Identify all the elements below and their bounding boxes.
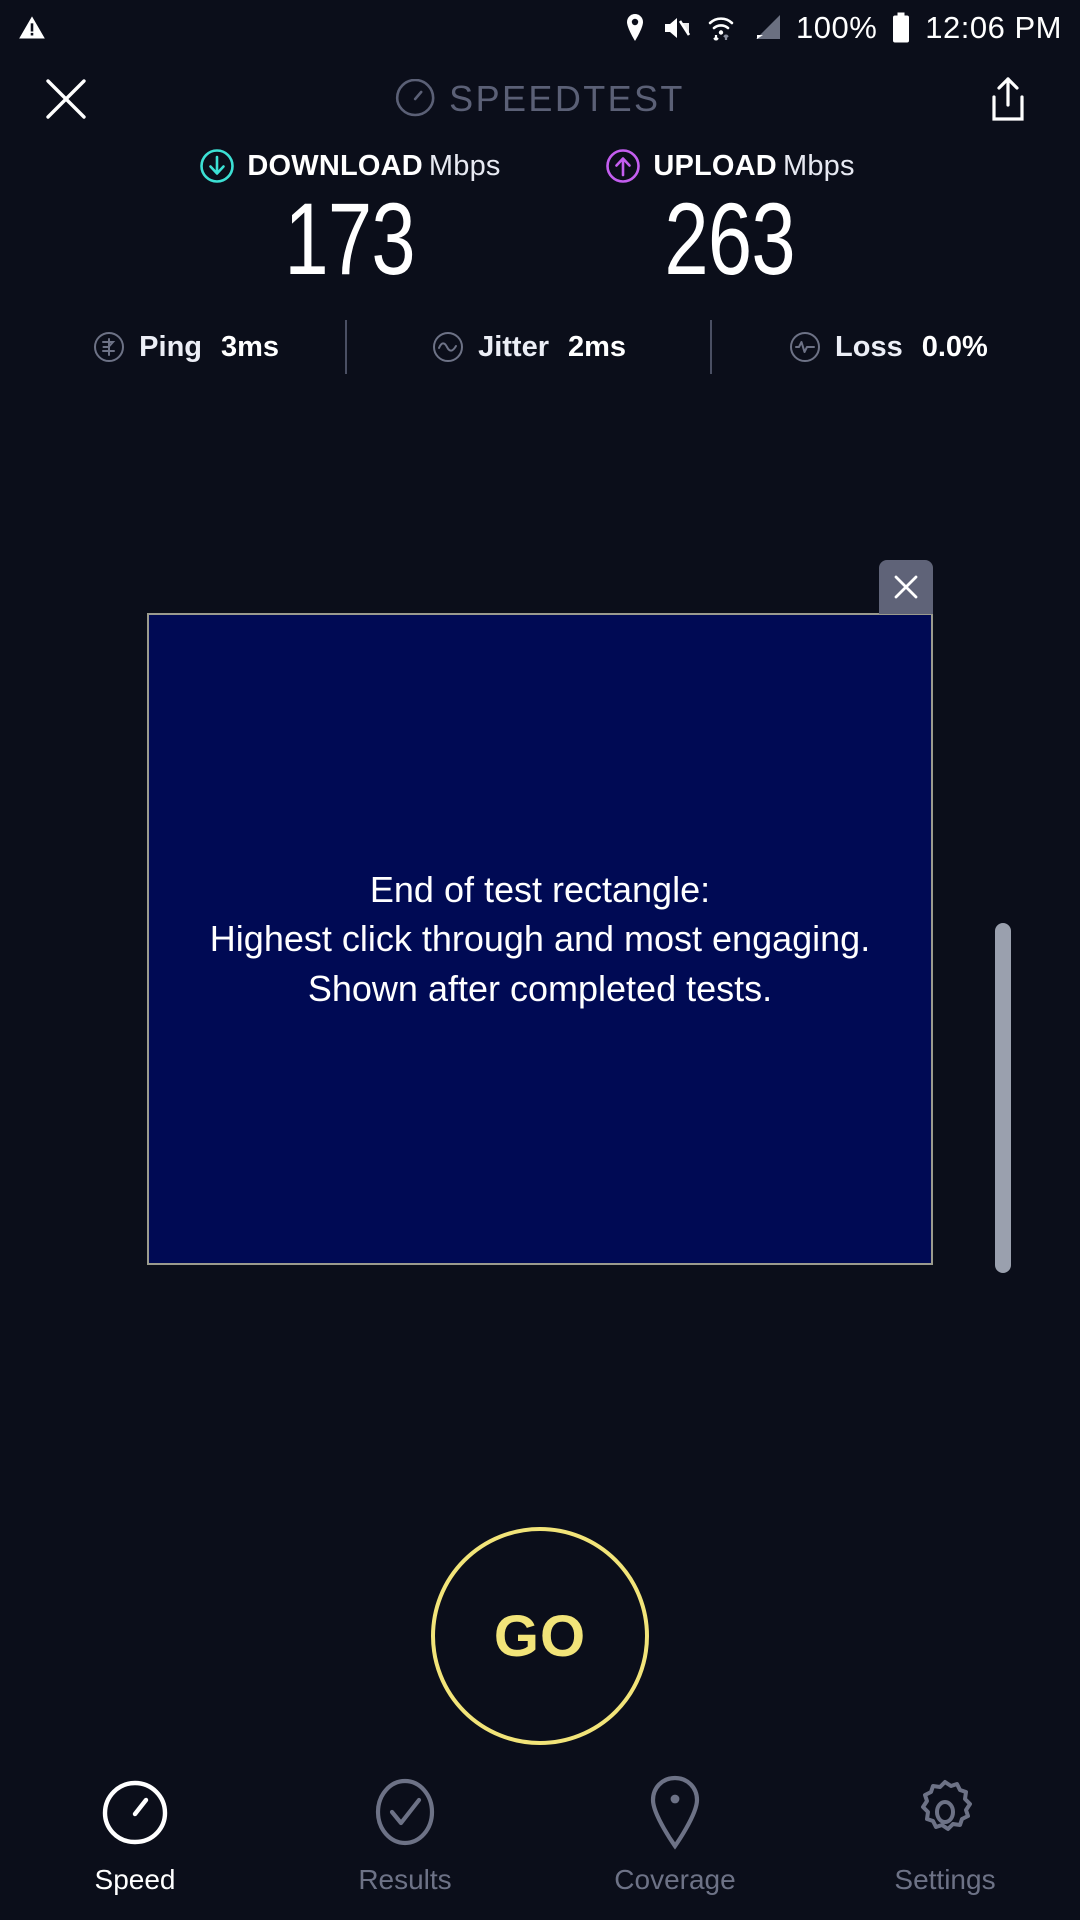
loss-icon <box>788 330 822 364</box>
status-bar-right: 100% 12:06 PM <box>622 10 1062 46</box>
speedometer-icon <box>395 79 435 119</box>
nav-label-settings: Settings <box>894 1864 995 1896</box>
warning-triangle-icon <box>18 14 46 42</box>
go-button[interactable]: GO <box>431 1527 649 1745</box>
jitter-metric: Jitter 2ms <box>431 330 626 364</box>
scrollbar-thumb[interactable] <box>995 923 1011 1273</box>
nav-item-settings[interactable]: Settings <box>810 1774 1080 1896</box>
download-label: DOWNLOADMbps <box>247 150 500 183</box>
bottom-navigation: Speed Results Coverage <box>0 1762 1080 1920</box>
download-value: 173 <box>285 188 415 290</box>
ad-close-button[interactable] <box>879 560 933 614</box>
close-button[interactable] <box>36 69 96 129</box>
speedtest-app-screen: 100% 12:06 PM SPEEDTEST <box>0 0 1080 1920</box>
loss-label: Loss <box>835 331 903 364</box>
battery-percent: 100% <box>796 10 877 46</box>
location-icon <box>622 13 648 43</box>
app-header: SPEEDTEST <box>0 56 1080 142</box>
wifi-icon <box>706 13 736 43</box>
nav-label-speed: Speed <box>95 1864 176 1896</box>
divider <box>710 320 712 374</box>
close-icon <box>43 76 89 122</box>
ping-label: Ping <box>139 331 202 364</box>
check-circle-icon <box>373 1774 437 1850</box>
upload-label: UPLOADMbps <box>653 150 854 183</box>
ad-text: End of test rectangle: Highest click thr… <box>190 865 890 1013</box>
clock-time: 12:06 PM <box>925 10 1062 46</box>
brand-logo: SPEEDTEST <box>395 78 685 120</box>
loss-metric: Loss 0.0% <box>788 330 988 364</box>
nav-item-results[interactable]: Results <box>270 1774 540 1896</box>
nav-item-speed[interactable]: Speed <box>0 1774 270 1896</box>
arrow-up-circle-icon <box>605 148 641 184</box>
advertisement-container: End of test rectangle: Highest click thr… <box>147 613 933 1265</box>
arrow-down-circle-icon <box>199 148 235 184</box>
ad-banner[interactable]: End of test rectangle: Highest click thr… <box>147 613 933 1265</box>
battery-full-icon <box>891 12 911 44</box>
brand-name: SPEEDTEST <box>449 78 685 120</box>
jitter-value: 2ms <box>568 331 626 364</box>
upload-metric: UPLOADMbps 263 <box>540 148 920 290</box>
ping-icon <box>92 330 126 364</box>
loss-value: 0.0% <box>922 331 988 364</box>
speedometer-icon <box>99 1774 171 1850</box>
go-button-label: GO <box>494 1603 586 1670</box>
speed-metrics-row: DOWNLOADMbps 173 UPLOADMbps 263 <box>0 142 1080 290</box>
ping-jitter-loss-row: Ping 3ms Jitter 2ms <box>0 320 1080 374</box>
jitter-icon <box>431 330 465 364</box>
test-results: DOWNLOADMbps 173 UPLOADMbps 263 <box>0 142 1080 374</box>
status-bar: 100% 12:06 PM <box>0 0 1080 56</box>
close-icon <box>891 572 921 602</box>
ping-value: 3ms <box>221 331 279 364</box>
jitter-label: Jitter <box>478 331 549 364</box>
download-label-row: DOWNLOADMbps <box>199 148 500 184</box>
nav-label-coverage: Coverage <box>614 1864 735 1896</box>
cellular-signal-icon <box>750 13 782 43</box>
mute-icon <box>662 14 692 42</box>
ping-metric: Ping 3ms <box>92 330 279 364</box>
nav-item-coverage[interactable]: Coverage <box>540 1774 810 1896</box>
gear-icon <box>909 1774 981 1850</box>
upload-label-row: UPLOADMbps <box>605 148 854 184</box>
upload-value: 263 <box>665 188 795 290</box>
nav-label-results: Results <box>358 1864 451 1896</box>
share-button[interactable] <box>980 71 1036 127</box>
divider <box>345 320 347 374</box>
location-pin-icon <box>647 1774 703 1850</box>
status-bar-left <box>18 14 46 42</box>
share-icon <box>987 75 1029 123</box>
download-metric: DOWNLOADMbps 173 <box>160 148 540 290</box>
